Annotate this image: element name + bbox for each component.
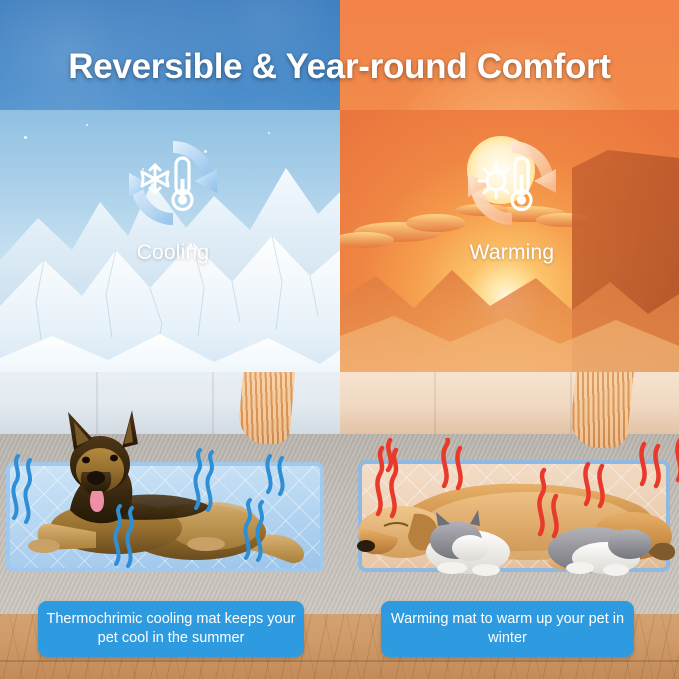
snowflake-dot [268, 132, 270, 134]
cool-wave-icon-group [0, 448, 340, 588]
warming-caption: Warming mat to warm up your pet in winte… [381, 601, 634, 657]
floor-seam [0, 660, 679, 662]
cooling-feature-label: Cooling [93, 241, 253, 265]
heat-wave-icon-group [340, 438, 679, 568]
sofa-seam [434, 372, 436, 434]
snowflake-dot [86, 124, 88, 126]
cooling-caption: Thermochrimic cooling mat keeps your pet… [38, 601, 304, 657]
warming-feature-label: Warming [432, 241, 592, 265]
draped-blanket-right [568, 372, 634, 448]
product-infographic: Cooling [0, 0, 679, 679]
snowflake-thermometer-cycle-icon [121, 131, 225, 235]
warming-feature-badge: Warming [432, 131, 592, 265]
snowflake-dot [24, 136, 27, 139]
page-title: Reversible & Year-round Comfort [0, 47, 679, 87]
sun-thermometer-cycle-icon [460, 131, 564, 235]
cooling-feature-badge: Cooling [93, 131, 253, 265]
